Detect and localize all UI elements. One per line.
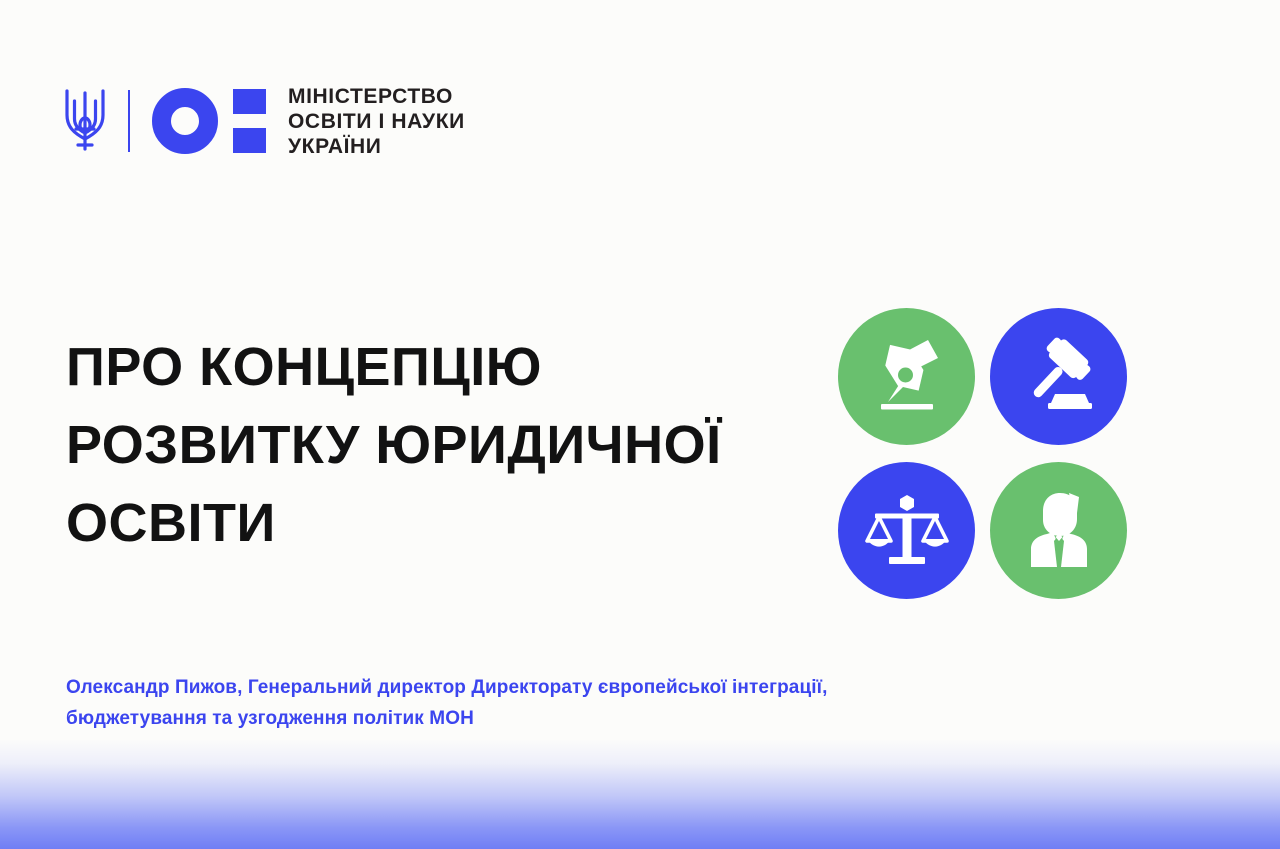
ministry-wordmark: МІНІСТЕРСТВО ОСВІТИ І НАУКИ УКРАЇНИ xyxy=(288,84,465,159)
logo-bar-top xyxy=(233,89,266,114)
fountain-pen-icon xyxy=(838,308,975,445)
logo-ring-o xyxy=(152,88,218,154)
logo-bars xyxy=(233,89,266,153)
scales-of-justice-icon xyxy=(838,462,975,599)
bottom-gradient-band xyxy=(0,739,1280,849)
gavel-icon xyxy=(990,308,1127,445)
subtitle-line-1: Олександр Пижов, Генеральний директор Ди… xyxy=(66,672,1196,703)
ukrainian-trident-icon xyxy=(62,85,108,157)
wordmark-line-2: ОСВІТИ І НАУКИ xyxy=(288,109,465,134)
logo-divider xyxy=(128,90,130,152)
title-line-1: ПРО КОНЦЕПЦІЮ xyxy=(66,328,806,406)
legal-icon-grid xyxy=(838,308,1127,599)
wordmark-line-1: МІНІСТЕРСТВО xyxy=(288,84,465,109)
title-line-3: ОСВІТИ xyxy=(66,484,806,562)
logo-bar-bottom xyxy=(233,128,266,153)
person-in-suit-icon xyxy=(990,462,1127,599)
presenter-subtitle: Олександр Пижов, Генеральний директор Ди… xyxy=(66,672,1196,734)
wordmark-line-3: УКРАЇНИ xyxy=(288,134,465,159)
subtitle-line-2: бюджетування та узгодження політик МОН xyxy=(66,703,1196,734)
presentation-slide: МІНІСТЕРСТВО ОСВІТИ І НАУКИ УКРАЇНИ ПРО … xyxy=(0,0,1280,849)
slide-title: ПРО КОНЦЕПЦІЮ РОЗВИТКУ ЮРИДИЧНОЇ ОСВІТИ xyxy=(66,328,806,562)
ministry-logo-lockup: МІНІСТЕРСТВО ОСВІТИ І НАУКИ УКРАЇНИ xyxy=(62,78,465,164)
title-line-2: РОЗВИТКУ ЮРИДИЧНОЇ xyxy=(66,406,806,484)
mon-logo-mark xyxy=(152,86,266,156)
